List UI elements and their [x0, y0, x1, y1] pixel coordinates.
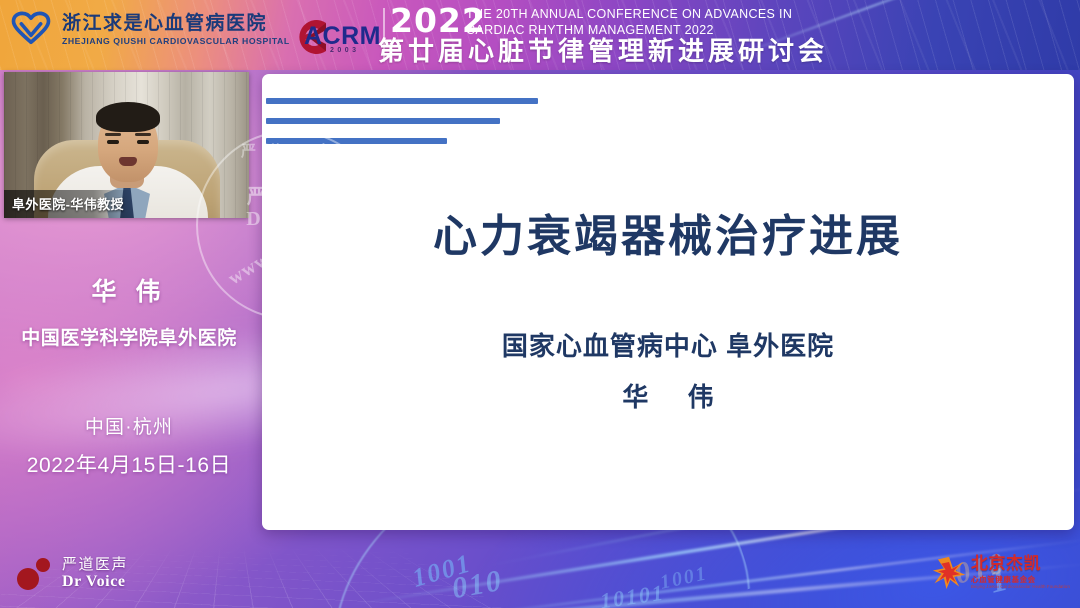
conference-header-bar: 浙江求是心血管病医院 ZHEJIANG QIUSHI CARDIOVASCULA… — [0, 0, 1080, 70]
drvoice-name-cn: 严道医声 — [62, 557, 128, 574]
hospital-name-en: ZHEJIANG QIUSHI CARDIOVASCULAR HOSPITAL — [62, 37, 290, 46]
speaker-info-panel: 华 伟 中国医学科学院阜外医院 中国·杭州 2022年4月15日-16日 — [0, 272, 258, 479]
slide-accent-bars — [266, 98, 538, 158]
drvoice-name-en: Dr Voice — [62, 573, 128, 591]
slide-title: 心力衰竭器械治疗进展 — [262, 200, 1074, 264]
acrm-year: 2003 — [330, 47, 360, 54]
drvoice-text-block: 严道医声 Dr Voice — [62, 557, 128, 592]
video-speaker-mouth — [119, 157, 137, 166]
speaker-video-feed[interactable]: 阜外医院-华伟教授 — [4, 72, 249, 218]
video-speaker-brow — [105, 133, 121, 136]
drvoice-logo: 严道医声 Dr Voice — [14, 554, 128, 594]
sponsor-name-cn: 北京杰凯 — [971, 555, 1070, 574]
video-speaker-eye — [107, 140, 119, 144]
hospital-name-cn: 浙江求是心血管病医院 — [62, 14, 285, 33]
acrm-logo: ACRM 2003 — [282, 14, 378, 58]
sponsor-text-block: 北京杰凯 心血管健康基金会 Beijing JieKai Cardiovascu… — [971, 555, 1070, 590]
speaker-affiliation: 中国医学科学院阜外医院 — [0, 323, 258, 350]
event-date: 2022年4月15日-16日 — [0, 449, 258, 479]
sponsor-logo: 北京杰凯 心血管健康基金会 Beijing JieKai Cardiovascu… — [932, 555, 1070, 590]
slide-accent-bar — [266, 138, 447, 144]
broadcast-stage: 1001 010 10101 1001 1 010 浙江求是心血管病医院 ZHE… — [0, 0, 1080, 608]
heart-shield-icon — [10, 9, 52, 51]
slide-accent-bar — [266, 118, 500, 124]
starburst-icon — [932, 556, 966, 590]
conference-title-en-line1: THE 20TH ANNUAL CONFERENCE ON ADVANCES I… — [466, 7, 792, 23]
video-speaker-label: 阜外医院-华伟教授 — [4, 190, 132, 218]
video-speaker-hair — [96, 102, 160, 132]
speaker-name: 华 伟 — [0, 272, 258, 308]
hospital-logo: 浙江求是心血管病医院 ZHEJIANG QIUSHI CARDIOVASCULA… — [10, 9, 285, 51]
event-city: 中国·杭州 — [0, 412, 258, 439]
sponsor-subtitle-cn: 心血管健康基金会 — [971, 576, 1070, 584]
conference-title-en: THE 20TH ANNUAL CONFERENCE ON ADVANCES I… — [466, 7, 792, 39]
video-speaker-eye — [137, 140, 149, 144]
slide-organization: 国家心血管病中心 阜外医院 — [262, 326, 1074, 363]
slide-presenter: 华 伟 — [262, 377, 1074, 414]
sponsor-subtitle-en: Beijing JieKai Cardiovascular Health Fou… — [971, 585, 1070, 590]
hospital-name-block: 浙江求是心血管病医院 ZHEJIANG QIUSHI CARDIOVASCULA… — [62, 14, 285, 46]
presentation-slide[interactable]: 心力衰竭器械治疗进展 国家心血管病中心 阜外医院 华 伟 — [262, 74, 1074, 530]
slide-subtitle-block: 国家心血管病中心 阜外医院 华 伟 — [262, 326, 1074, 414]
conference-title-cn: 第廿届心脏节律管理新进展研讨会 — [378, 37, 828, 66]
two-dots-icon — [14, 554, 54, 594]
slide-accent-bar — [266, 98, 538, 104]
video-speaker-brow — [135, 133, 151, 136]
